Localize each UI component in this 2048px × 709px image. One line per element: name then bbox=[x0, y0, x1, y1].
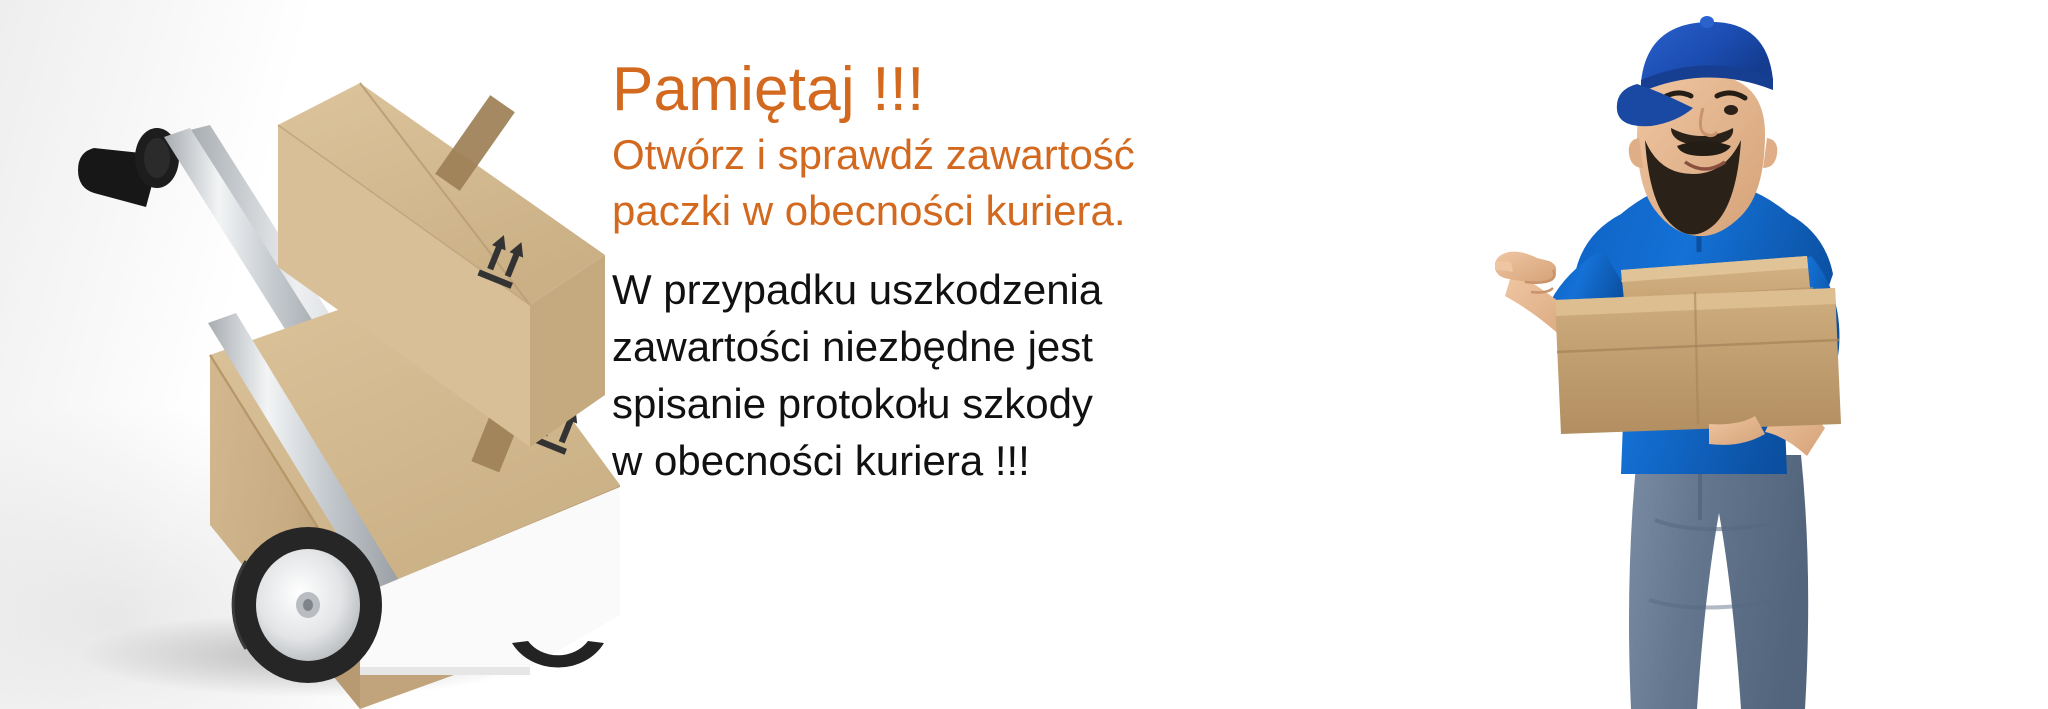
cap-button bbox=[1700, 16, 1714, 28]
body-line-4: w obecności kuriera !!! bbox=[612, 432, 1192, 489]
subheadline-line-1: Otwórz i sprawdź zawartość bbox=[612, 127, 1192, 183]
body-copy: W przypadku uszkodzenia zawartości niezb… bbox=[612, 261, 1192, 489]
courier-eye-right bbox=[1724, 105, 1738, 115]
body-line-3: spisanie protokołu szkody bbox=[612, 375, 1192, 432]
body-line-1: W przypadku uszkodzenia bbox=[612, 261, 1192, 318]
truck-wheel-front bbox=[233, 527, 382, 683]
promo-banner: Pamiętaj !!! Otwórz i sprawdź zawartość … bbox=[0, 0, 2048, 709]
copy-block: Pamiętaj !!! Otwórz i sprawdź zawartość … bbox=[612, 58, 1192, 489]
subheadline: Otwórz i sprawdź zawartość paczki w obec… bbox=[612, 127, 1192, 239]
truck-handle bbox=[78, 128, 179, 207]
subheadline-line-2: paczki w obecności kuriera. bbox=[612, 183, 1192, 239]
hand-truck-illustration bbox=[60, 55, 620, 709]
courier-jeans bbox=[1629, 455, 1808, 709]
body-line-2: zawartości niezbędne jest bbox=[612, 318, 1192, 375]
headline: Pamiętaj !!! bbox=[612, 58, 1192, 121]
courier-illustration bbox=[1495, 0, 2048, 709]
